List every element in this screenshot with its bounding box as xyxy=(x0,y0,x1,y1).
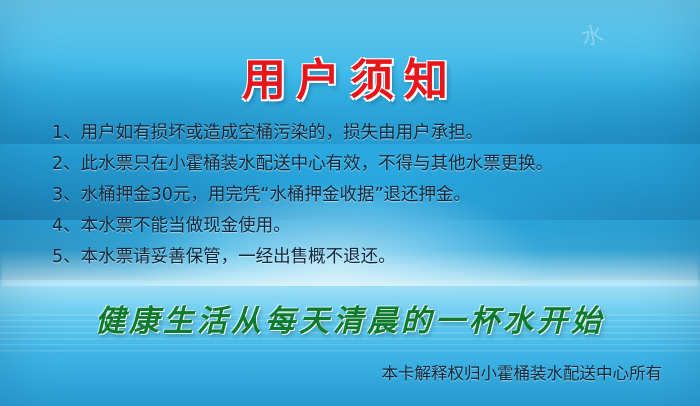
card-content: 用户须知 1、用户如有损坏或造成空桶污染的，损失由用户承担。 2、此水票只在小霍… xyxy=(0,0,700,406)
water-ticket-card: 水 用户须知 1、用户如有损坏或造成空桶污染的，损失由用户承担。 2、此水票只在… xyxy=(0,0,700,406)
slogan-text: 健康生活从每天清晨的一杯水开始 xyxy=(0,296,700,340)
list-item: 2、此水票只在小霍桶装水配送中心有效，不得与其他水票更换。 xyxy=(52,149,672,180)
page-title: 用户须知 xyxy=(0,44,700,108)
list-item: 4、本水票不能当做现金使用。 xyxy=(52,211,672,242)
list-item: 3、水桶押金30元，用完凭“水桶押金收据”退还押金。 xyxy=(52,180,672,211)
list-item: 1、用户如有损坏或造成空桶污染的，损失由用户承担。 xyxy=(52,118,672,149)
list-item: 5、本水票请妥善保管，一经出售概不退还。 xyxy=(52,242,672,273)
footer-disclaimer: 本卡解释权归小霍桶装水配送中心所有 xyxy=(382,360,663,384)
terms-list: 1、用户如有损坏或造成空桶污染的，损失由用户承担。 2、此水票只在小霍桶装水配送… xyxy=(52,118,672,273)
